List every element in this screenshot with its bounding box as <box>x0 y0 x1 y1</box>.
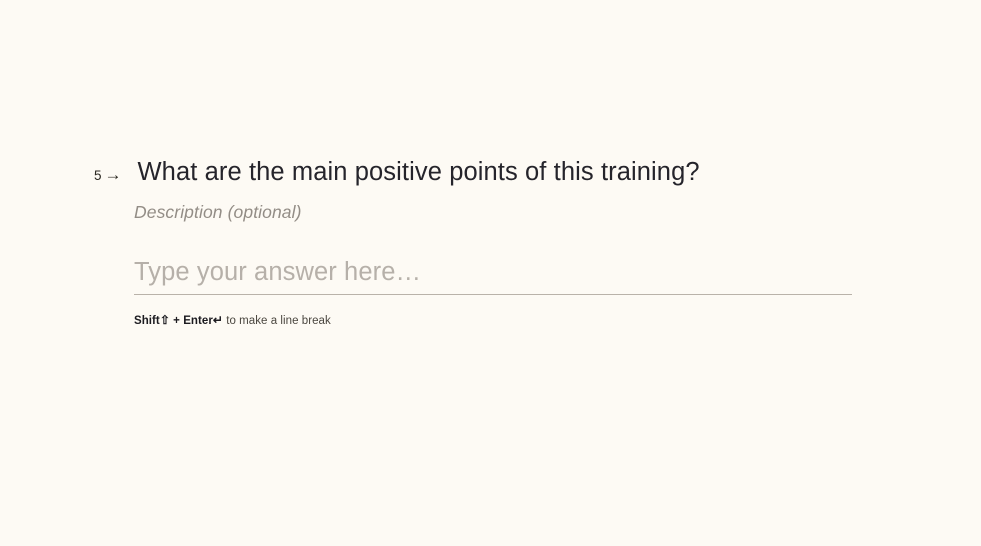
hint-tail-text: to make a line break <box>226 315 331 327</box>
question-block: 5 → What are the main positive points of… <box>94 158 894 187</box>
hint-enter-label: Enter <box>183 315 213 327</box>
line-break-hint: Shift⇧ + Enter↵ to make a line break <box>134 313 331 327</box>
question-headline: 5 → What are the main positive points of… <box>94 158 894 187</box>
answer-input[interactable] <box>134 258 852 295</box>
question-description: Description (optional) <box>134 202 302 223</box>
form-canvas: 5 → What are the main positive points of… <box>0 0 981 546</box>
hint-shift-label: Shift <box>134 315 160 327</box>
hint-plus: + <box>173 315 180 327</box>
shift-key-icon: ⇧ <box>160 313 170 327</box>
question-title: What are the main positive points of thi… <box>138 158 700 187</box>
answer-field-wrapper <box>134 258 852 295</box>
question-number: 5 <box>94 169 102 183</box>
enter-key-icon: ↵ <box>213 313 223 327</box>
arrow-right-icon: → <box>105 166 122 183</box>
